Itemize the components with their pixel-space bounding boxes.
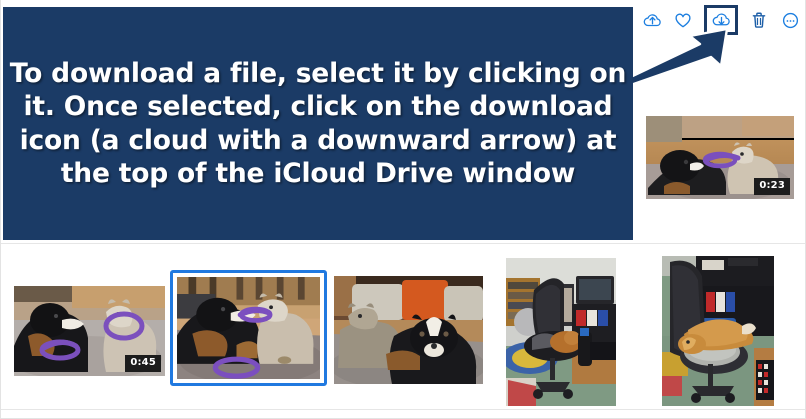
thumbnail-1[interactable]: 0:45 <box>14 286 165 376</box>
thumbnail-2-image-wrap <box>177 277 320 379</box>
bottom-divider <box>1 409 805 410</box>
thumbnail-strip: 0:45 <box>0 244 806 409</box>
thumbnail-5[interactable] <box>662 256 774 406</box>
toolbar <box>642 5 800 35</box>
instruction-overlay: To download a file, select it by clickin… <box>3 7 633 240</box>
thumbnail-2-photo <box>177 277 320 379</box>
download-button-highlight[interactable] <box>704 5 738 35</box>
thumbnail-1-image-wrap: 0:45 <box>14 286 165 376</box>
trash-icon[interactable] <box>749 9 769 31</box>
instruction-text: To download a file, select it by clickin… <box>9 57 627 190</box>
thumbnail-3-photo <box>334 276 483 384</box>
screenshot-root: To download a file, select it by clickin… <box>0 0 806 419</box>
thumbnail-5-photo <box>662 256 774 406</box>
thumbnail-3-image-wrap <box>334 276 483 384</box>
thumbnail-4-photo <box>506 258 616 406</box>
download-cloud-icon[interactable] <box>711 9 731 31</box>
thumbnail-3[interactable] <box>334 276 483 384</box>
thumbnail-4[interactable] <box>506 258 616 406</box>
thumbnail-1-duration-badge: 0:45 <box>125 355 161 372</box>
upload-cloud-icon[interactable] <box>642 9 662 31</box>
thumbnail-5-image-wrap <box>662 256 774 406</box>
thumbnail-2[interactable] <box>170 270 327 386</box>
heart-icon[interactable] <box>673 9 693 31</box>
more-options-icon[interactable] <box>780 9 800 31</box>
preview-duration-badge: 0:23 <box>754 178 790 195</box>
top-preview-thumbnail[interactable]: 0:23 <box>646 116 794 199</box>
preview-image-wrap: 0:23 <box>646 116 794 199</box>
thumbnail-4-image-wrap <box>506 258 616 406</box>
